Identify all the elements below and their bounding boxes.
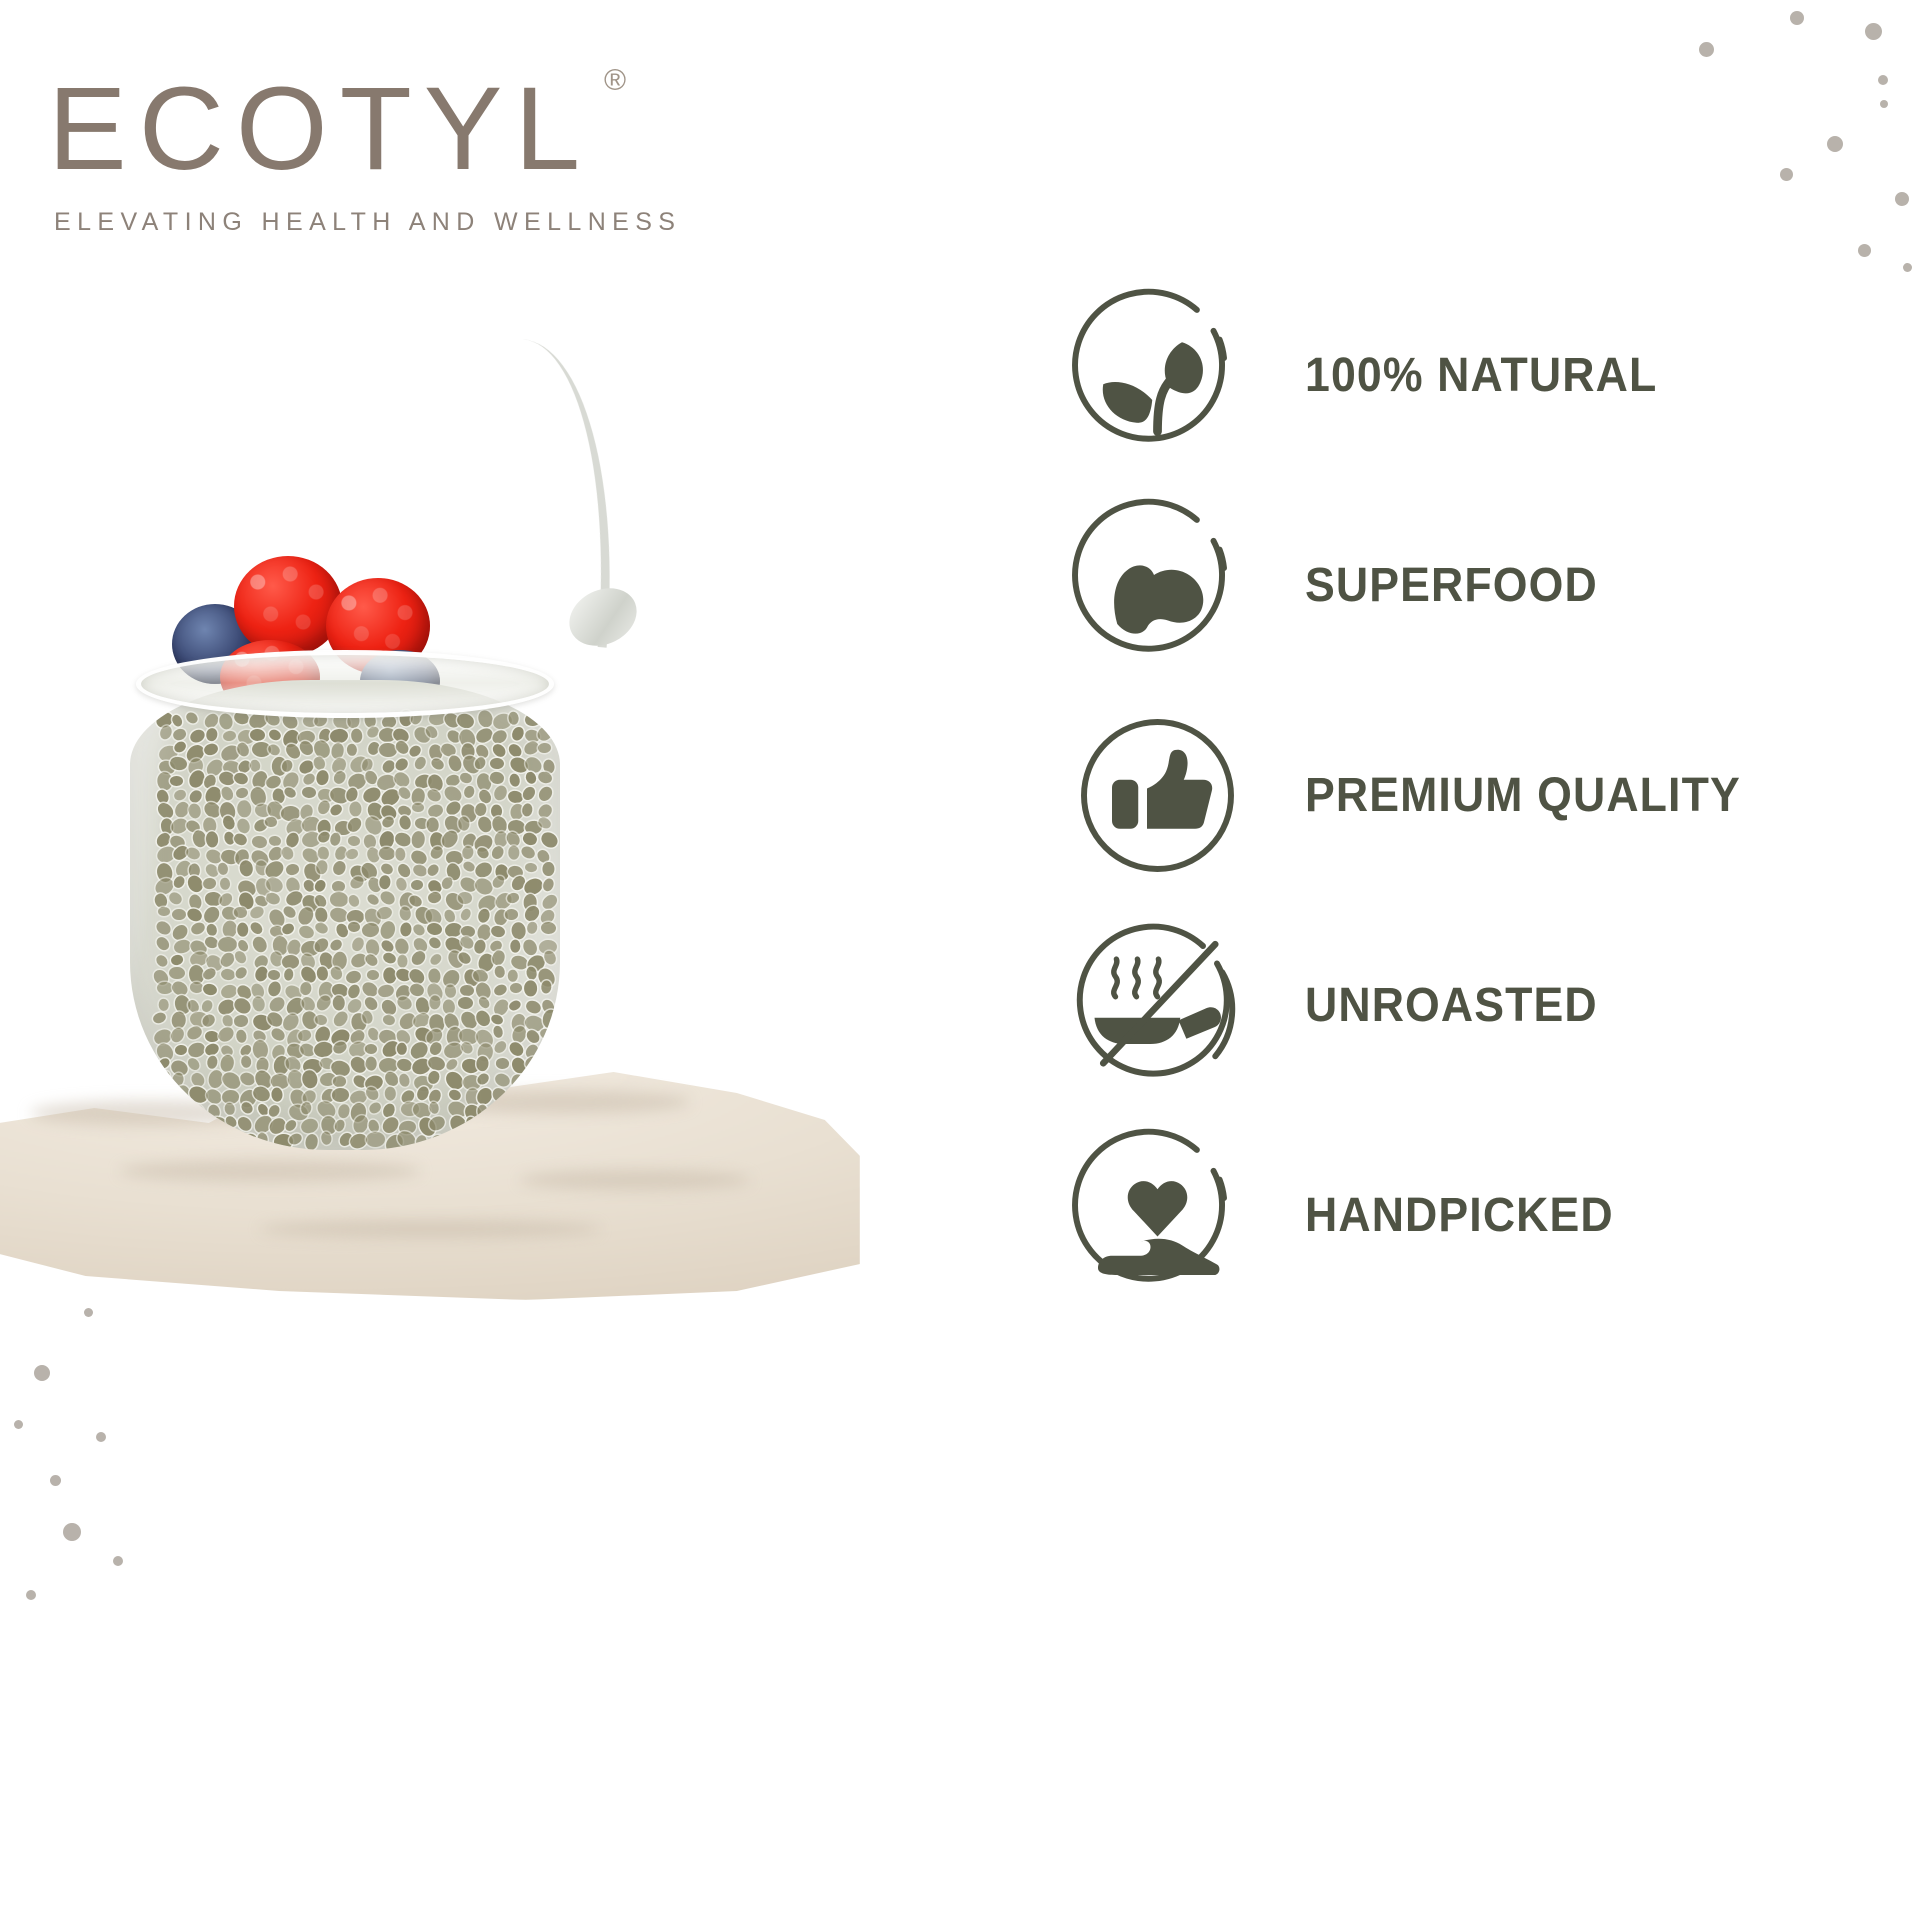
no-frying-pan-icon <box>1070 918 1245 1093</box>
raspberry <box>234 556 342 656</box>
decorative-dot <box>1895 192 1909 206</box>
feature-item-premium-quality: PREMIUM QUALITY <box>1070 708 1870 883</box>
brand-logo: ECOTYL ® ELEVATING HEALTH AND WELLNESS <box>48 70 681 237</box>
chia-pudding-jar-photo <box>0 400 880 1650</box>
feature-item-handpicked: HANDPICKED <box>1070 1128 1870 1303</box>
feature-list: 100% NATURAL SUPERFOOD PREMIUM QUALITY <box>1070 288 1870 1303</box>
flexed-bicep-icon <box>1070 498 1245 673</box>
feature-item-superfood: SUPERFOOD <box>1070 498 1870 673</box>
decorative-dot <box>1858 244 1871 257</box>
heart-in-hand-icon <box>1070 1128 1245 1303</box>
feature-label: SUPERFOOD <box>1305 558 1598 613</box>
decorative-dot <box>1903 263 1912 272</box>
feature-item-natural: 100% NATURAL <box>1070 288 1870 463</box>
decorative-dot <box>1880 100 1888 108</box>
decorative-dot <box>1865 23 1882 40</box>
decorative-dot <box>1878 75 1888 85</box>
feature-item-unroasted: UNROASTED <box>1070 918 1870 1093</box>
glass-jar <box>130 650 560 1150</box>
decorative-dot <box>1780 168 1793 181</box>
feature-label: UNROASTED <box>1305 978 1598 1033</box>
brand-tagline: ELEVATING HEALTH AND WELLNESS <box>54 208 681 237</box>
feature-label: 100% NATURAL <box>1305 348 1657 403</box>
feature-label: PREMIUM QUALITY <box>1305 768 1741 823</box>
brand-name-text: ECOTYL <box>48 63 592 195</box>
thumbs-up-icon <box>1070 708 1245 883</box>
chia-seeds <box>130 680 560 1150</box>
jar-rim <box>136 650 554 718</box>
decorative-dot <box>1699 42 1714 57</box>
decorative-dot <box>1827 136 1843 152</box>
decorative-dot <box>1790 11 1804 25</box>
brand-name: ECOTYL ® <box>48 70 592 188</box>
feature-label: HANDPICKED <box>1305 1188 1614 1243</box>
registered-trademark-icon: ® <box>604 66 626 96</box>
jar-body <box>130 680 560 1150</box>
sprout-icon <box>1070 288 1245 463</box>
